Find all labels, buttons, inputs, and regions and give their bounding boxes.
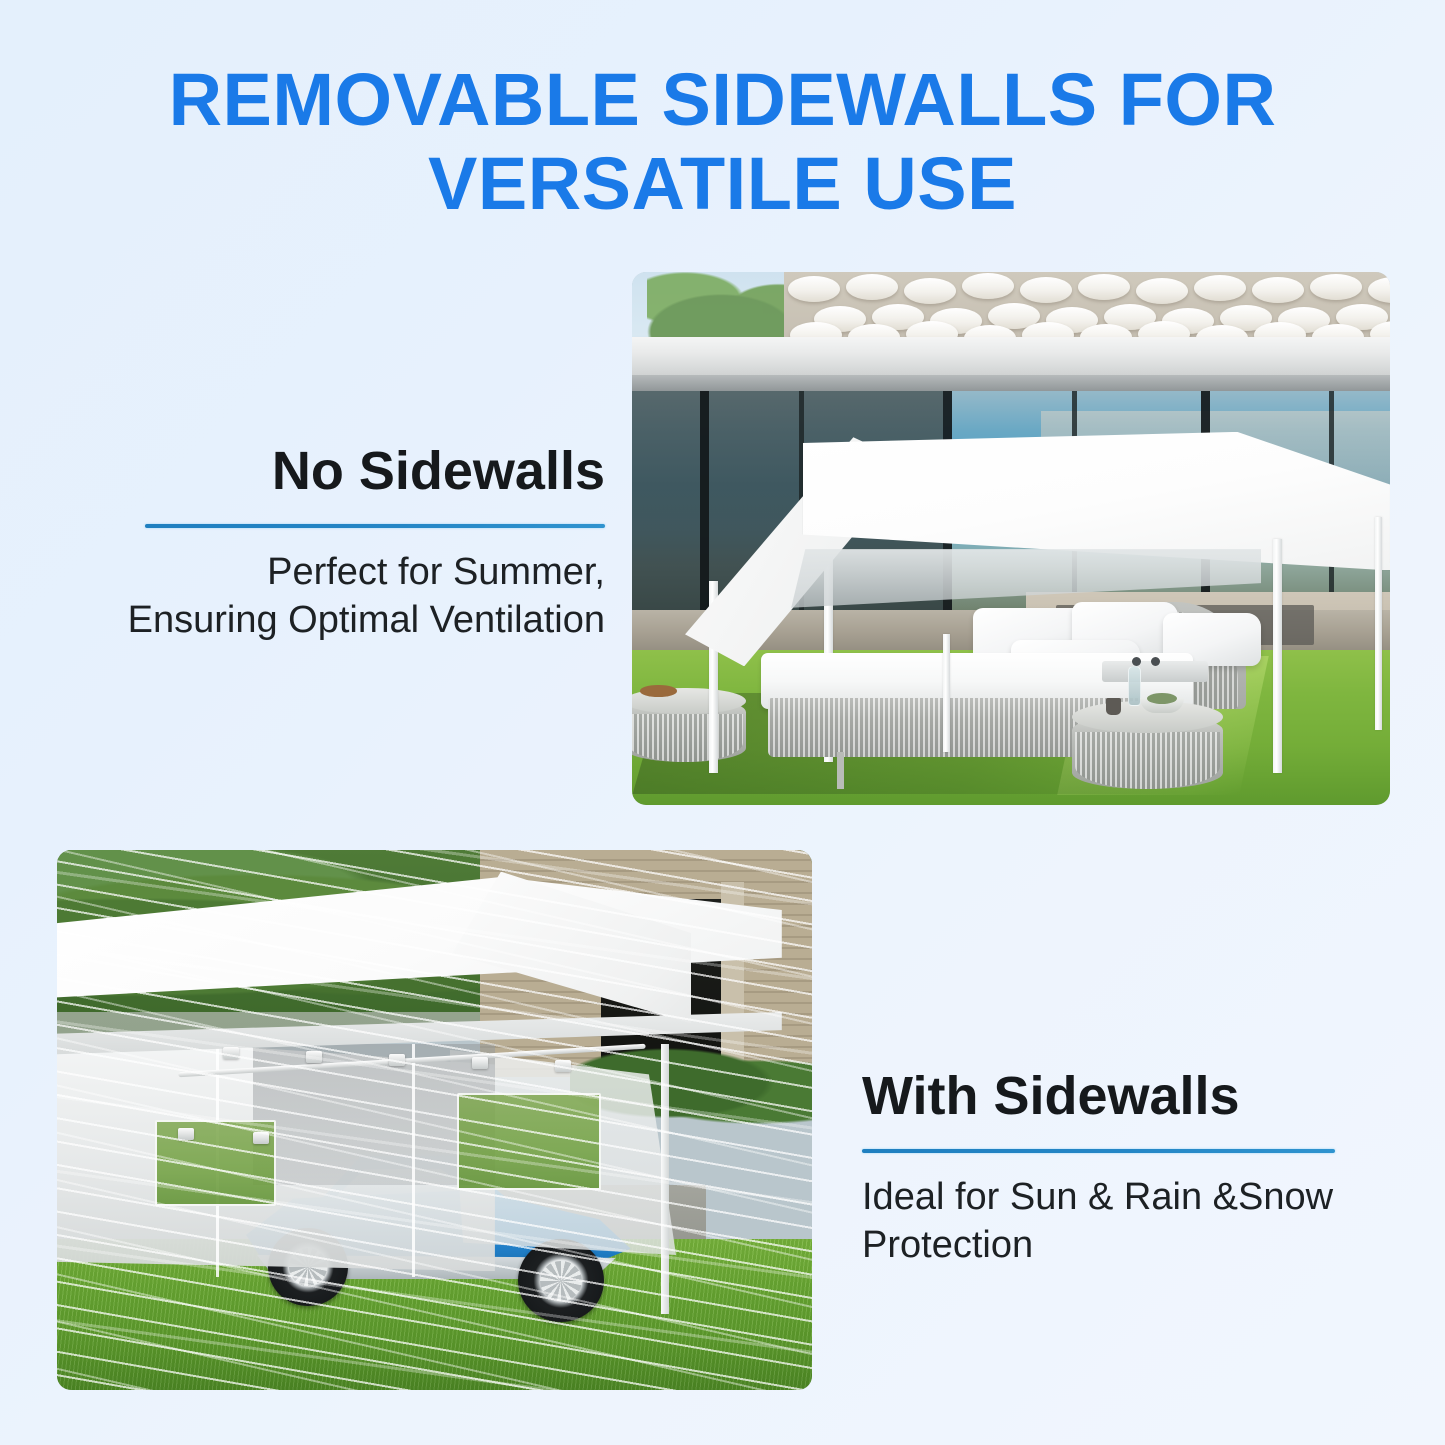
canopy-pole-center (943, 634, 950, 751)
roof-fascia (632, 337, 1390, 378)
feature-no-sidewalls-photo (632, 272, 1390, 805)
feature-no-sidewalls-description-line-1: Perfect for Summer, (267, 551, 605, 593)
feature-no-sidewalls-title: No Sidewalls (100, 440, 605, 502)
feature-with-sidewalls-photo (57, 850, 812, 1390)
sidewall-clip (223, 1047, 239, 1059)
page-title-line-1: REMOVABLE SIDEWALLS FOR (169, 58, 1277, 141)
sidewall-seam (412, 1044, 415, 1276)
window-clip (253, 1132, 269, 1144)
feature-no-sidewalls-description: Perfect for Summer, Ensuring Optimal Ven… (100, 548, 605, 644)
pergola-slats (784, 272, 1390, 344)
canopy-pole-right-rear (1375, 517, 1382, 730)
feature-with-sidewalls-text: With Sidewalls Ideal for Sun & Rain &Sno… (862, 1065, 1362, 1269)
product-feature-page: REMOVABLE SIDEWALLS FOR VERSATILE USE No… (0, 0, 1445, 1445)
feature-with-sidewalls-description: Ideal for Sun & Rain &Snow Protection (862, 1173, 1362, 1269)
tray-object (1151, 657, 1160, 666)
window-mullion (700, 391, 709, 615)
page-title: REMOVABLE SIDEWALLS FOR VERSATILE USE (0, 58, 1445, 226)
sidewall-window-right (457, 1093, 600, 1190)
feature-no-sidewalls-text: No Sidewalls Perfect for Summer, Ensurin… (100, 440, 605, 644)
page-title-line-2: VERSATILE USE (0, 142, 1445, 226)
cup (1106, 698, 1121, 715)
sidewall-clip (306, 1051, 322, 1063)
window-view (459, 1095, 598, 1188)
feature-with-sidewalls-description-line-1: Ideal for Sun & Rain &Snow (862, 1176, 1333, 1218)
canopy-with-sidewalls-rain-scene (57, 850, 812, 1390)
sidewall-clip (389, 1054, 405, 1066)
sidewall-clip (472, 1057, 488, 1069)
sidewall-clip (555, 1060, 571, 1072)
daybed-foot (837, 752, 844, 789)
carport-pole-right (661, 1044, 669, 1314)
feature-with-sidewalls-description-line-2: Protection (862, 1224, 1033, 1266)
feature-with-sidewalls-divider (862, 1149, 1335, 1153)
feature-no-sidewalls-description-line-2: Ensuring Optimal Ventilation (128, 599, 605, 641)
roof-soffit (632, 375, 1390, 392)
window-clip (178, 1128, 194, 1140)
feature-no-sidewalls-divider (145, 524, 605, 528)
feature-with-sidewalls-title: With Sidewalls (862, 1065, 1362, 1127)
canopy-no-sidewalls-scene (632, 272, 1390, 805)
car-wheel-front (518, 1239, 605, 1323)
canopy-pole-right-front (1273, 539, 1282, 774)
table-bowl-left (640, 685, 678, 697)
